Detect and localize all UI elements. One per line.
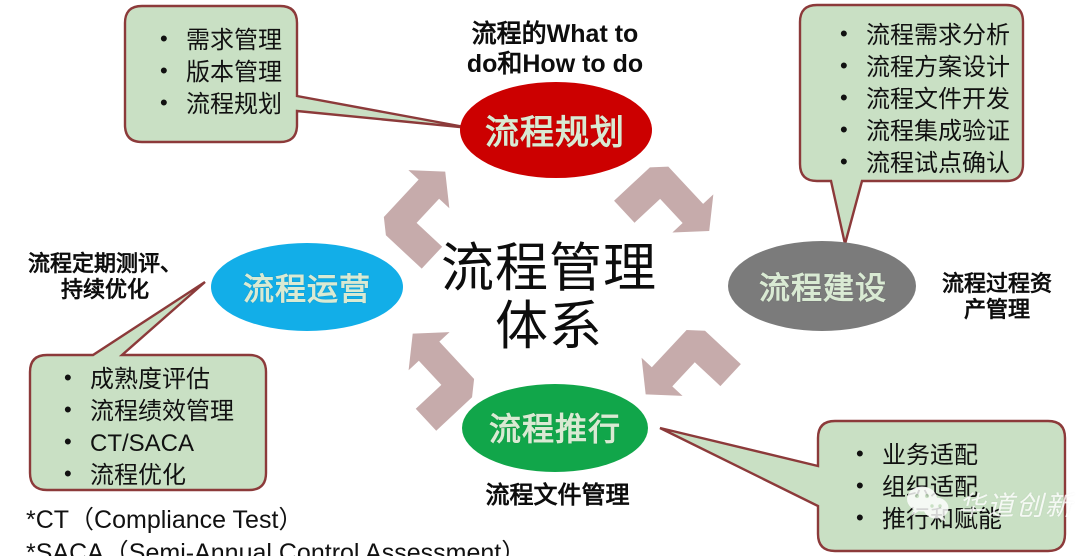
caption-right: 流程过程资 产管理 — [922, 271, 1072, 323]
caption-left-line1: 流程定期测评、 — [10, 251, 200, 277]
caption-top: 流程的What to do和How to do — [440, 20, 670, 79]
center-title-line1: 流程管理 — [424, 240, 674, 298]
list-item: 流程方案设计 — [840, 52, 1010, 84]
callout-deploy-list: 业务适配组织适配推行和赋能 — [826, 440, 1002, 536]
callout-build-text: 流程需求分析流程方案设计流程文件开发流程集成验证流程试点确认 — [810, 20, 1010, 180]
footnotes: *CT（Compliance Test） *SACA（Semi-Annual C… — [26, 504, 526, 556]
center-title-line2: 体系 — [424, 298, 674, 356]
node-plan-ellipse[interactable] — [460, 82, 652, 178]
footnote-saca: *SACA（Semi-Annual Control Assessment） — [26, 537, 526, 556]
list-item: 需求管理 — [160, 25, 282, 57]
caption-right-line1: 流程过程资 — [922, 271, 1072, 297]
footnote-ct: *CT（Compliance Test） — [26, 504, 526, 537]
callout-operate-text: 成熟度评估流程绩效管理CT/SACA流程优化 — [34, 364, 234, 492]
list-item: 流程试点确认 — [840, 148, 1010, 180]
list-item: 流程绩效管理 — [64, 396, 234, 428]
list-item: 推行和赋能 — [856, 504, 1002, 536]
list-item: 流程规划 — [160, 89, 282, 121]
list-item: 流程文件开发 — [840, 84, 1010, 116]
caption-left: 流程定期测评、 持续优化 — [10, 251, 200, 303]
list-item: 成熟度评估 — [64, 364, 234, 396]
node-build-ellipse[interactable] — [728, 241, 916, 331]
list-item: 流程需求分析 — [840, 20, 1010, 52]
node-deploy-ellipse[interactable] — [462, 384, 648, 472]
callout-build-list: 流程需求分析流程方案设计流程文件开发流程集成验证流程试点确认 — [810, 20, 1010, 180]
callout-plan-list: 需求管理版本管理流程规划 — [130, 25, 282, 121]
callout-operate-list: 成熟度评估流程绩效管理CT/SACA流程优化 — [34, 364, 234, 492]
callout-deploy-text: 业务适配组织适配推行和赋能 — [826, 440, 1002, 536]
list-item: 组织适配 — [856, 472, 1002, 504]
center-title: 流程管理 体系 — [424, 240, 674, 356]
callout-plan-text: 需求管理版本管理流程规划 — [130, 25, 282, 121]
list-item: 版本管理 — [160, 57, 282, 89]
list-item: 业务适配 — [856, 440, 1002, 472]
list-item: 流程优化 — [64, 460, 234, 492]
node-operate-ellipse[interactable] — [211, 243, 403, 331]
caption-top-line1: 流程的What to — [440, 20, 670, 50]
caption-left-line2: 持续优化 — [10, 277, 200, 303]
diagram-canvas: 流程规划 流程建设 流程推行 流程运营 流程管理 体系 流程的What to d… — [0, 0, 1080, 556]
caption-top-line2: do和How to do — [440, 50, 670, 80]
caption-right-line2: 产管理 — [922, 297, 1072, 323]
list-item: CT/SACA — [64, 428, 234, 460]
list-item: 流程集成验证 — [840, 116, 1010, 148]
